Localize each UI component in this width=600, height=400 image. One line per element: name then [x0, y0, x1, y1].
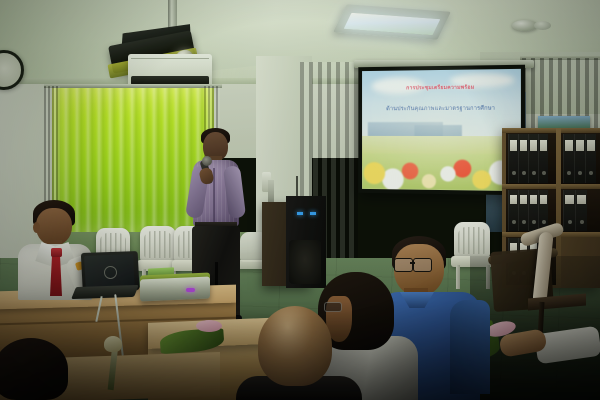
binder [538, 134, 548, 183]
binder-label [520, 195, 527, 204]
amplifier-led-indicator [310, 212, 316, 215]
binder-ring-icon [589, 171, 593, 175]
floor-shadow-gradient [0, 300, 600, 400]
projection-screen: การประชุมเตรียมความพร้อม ด้านประกันคุณภา… [358, 65, 525, 196]
binder [563, 190, 575, 231]
binder-label [510, 140, 517, 151]
slide-surface: การประชุมเตรียมความพร้อม ด้านประกันคุณภา… [362, 69, 521, 191]
binder-ring-icon [512, 220, 516, 224]
binder-ring-icon [542, 220, 546, 224]
binder [563, 134, 574, 183]
binder-ring-icon [567, 171, 571, 175]
binder-ring-icon [578, 171, 582, 175]
binder [518, 134, 528, 183]
binder-ring-icon [580, 220, 584, 224]
binder-label [540, 195, 547, 204]
binder-label [540, 140, 547, 151]
binder [538, 190, 548, 231]
eyeglasses-bridge-icon [410, 262, 415, 264]
eyeglasses-left-lens-icon [394, 258, 413, 272]
binder-label [565, 140, 573, 151]
binder [518, 190, 528, 231]
plastic-chair-slats [458, 227, 486, 254]
binder-ring-icon [512, 171, 516, 175]
operator-tie-knot [51, 248, 62, 257]
binder-label [530, 140, 537, 151]
slide-subtitle: ด้านประกันคุณภาพและมาตรฐานการศึกษา [370, 104, 513, 113]
binder [585, 134, 596, 183]
binder [528, 190, 538, 231]
amplifier-led-indicator [297, 212, 303, 215]
binder-label [587, 140, 595, 151]
plastic-chair-leg [456, 265, 460, 289]
binder-ring-icon [568, 220, 572, 224]
binder [575, 190, 587, 231]
binder-ring-icon [522, 220, 526, 224]
receiver-antenna [296, 176, 298, 198]
speaker-cone-icon [289, 240, 321, 284]
binder [508, 190, 518, 231]
binder [528, 134, 538, 183]
air-conditioner-seam [131, 58, 209, 59]
binder [574, 134, 585, 183]
binder [508, 134, 518, 183]
binder-label [520, 140, 527, 151]
binder-label [510, 195, 517, 204]
binder-label [565, 195, 574, 204]
eyeglasses-right-lens-icon [413, 258, 432, 272]
binder-label [576, 140, 584, 151]
desk-projector [140, 276, 210, 301]
binder-ring-icon [542, 171, 546, 175]
photograph-scene: การประชุมเตรียมความพร้อม ด้านประกันคุณภา… [0, 0, 600, 400]
binder-label [577, 195, 586, 204]
slide-title: การประชุมเตรียมความพร้อม [374, 84, 507, 93]
plastic-chair-slats [144, 231, 172, 258]
desk-projector-indicator [186, 288, 195, 292]
binder-ring-icon [532, 171, 536, 175]
slide-flower-border [362, 154, 521, 192]
binder-ring-icon [522, 171, 526, 175]
binder-ring-icon [532, 220, 536, 224]
laptop-keyboard-base [71, 285, 139, 299]
binder-label [530, 195, 537, 204]
operator-ear [33, 222, 40, 233]
microphone-head-icon [202, 156, 212, 166]
ceiling-speaker-secondary-icon [534, 21, 551, 30]
